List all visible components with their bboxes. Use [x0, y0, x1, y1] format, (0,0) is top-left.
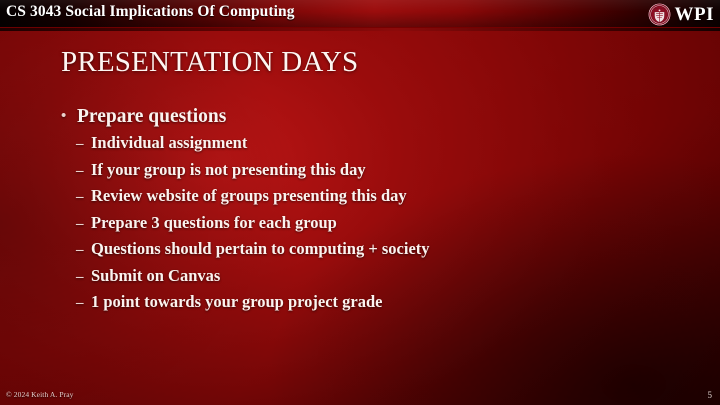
- list-item: – Individual assignment: [0, 133, 720, 160]
- bullet-dash-icon: –: [76, 164, 91, 179]
- list-item: – Submit on Canvas: [0, 266, 720, 293]
- list-item-label: Individual assignment: [91, 133, 247, 153]
- wpi-wordmark: WPI: [675, 5, 715, 24]
- list-item: – Prepare 3 questions for each group: [0, 213, 720, 240]
- list-item: – If your group is not presenting this d…: [0, 160, 720, 187]
- bullet-dash-icon: –: [76, 296, 91, 311]
- list-item: – 1 point towards your group project gra…: [0, 292, 720, 319]
- bullet-dash-icon: –: [76, 217, 91, 232]
- bullet-dash-icon: –: [76, 270, 91, 285]
- list-item: – Questions should pertain to computing …: [0, 239, 720, 266]
- bullet-dash-icon: –: [76, 243, 91, 258]
- course-title: CS 3043 Social Implications Of Computing: [6, 3, 295, 21]
- wpi-logo: WPI: [648, 1, 715, 27]
- bullet-dash-icon: –: [76, 190, 91, 205]
- presentation-slide: CS 3043 Social Implications Of Computing…: [0, 0, 720, 405]
- list-item-label: Prepare questions: [77, 106, 226, 128]
- page-title: PRESENTATION DAYS: [61, 46, 358, 79]
- bullet-dot-icon: •: [61, 109, 77, 124]
- list-item: • Prepare questions: [0, 106, 720, 133]
- list-item-label: Review website of groups presenting this…: [91, 186, 407, 206]
- list-item-label: Prepare 3 questions for each group: [91, 213, 337, 233]
- copyright-notice: © 2024 Keith A. Pray: [6, 390, 74, 399]
- list-item-label: If your group is not presenting this day: [91, 160, 366, 180]
- wpi-seal-icon: [648, 3, 671, 26]
- list-item: – Review website of groups presenting th…: [0, 186, 720, 213]
- list-item-label: Questions should pertain to computing + …: [91, 239, 430, 259]
- page-number: 5: [708, 390, 713, 400]
- header-underline: [0, 28, 720, 31]
- list-item-label: Submit on Canvas: [91, 266, 220, 286]
- bullet-dash-icon: –: [76, 137, 91, 152]
- bullet-list: • Prepare questions – Individual assignm…: [0, 106, 720, 319]
- list-item-label: 1 point towards your group project grade: [91, 292, 383, 312]
